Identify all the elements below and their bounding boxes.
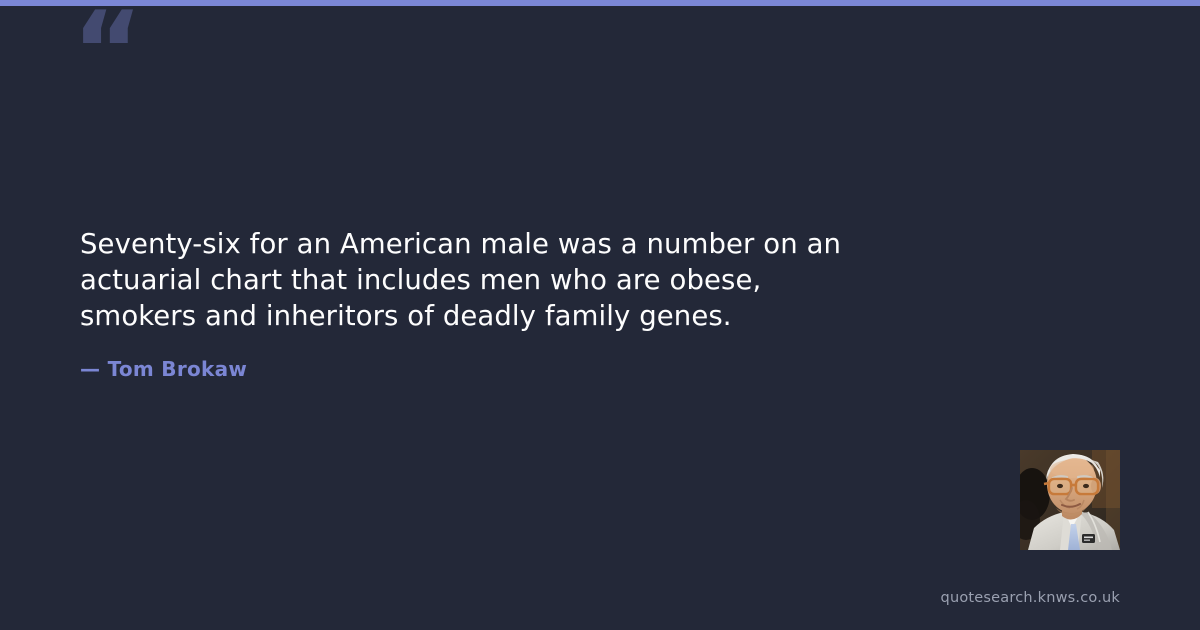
author-portrait xyxy=(1020,450,1120,550)
author-portrait-image xyxy=(1020,450,1120,550)
site-url-label: quotesearch.knws.co.uk xyxy=(941,590,1120,606)
quote-author: — Tom Brokaw xyxy=(80,357,247,381)
open-quote-icon: “ xyxy=(72,0,141,106)
quote-line: actuarial chart that includes men who ar… xyxy=(80,262,980,298)
quote-line: Seventy-six for an American male was a n… xyxy=(80,226,980,262)
quote-line: smokers and inheritors of deadly family … xyxy=(80,298,980,334)
quote-text: Seventy-six for an American male was a n… xyxy=(80,226,980,334)
top-accent-bar xyxy=(0,0,1200,6)
quote-card: “ Seventy-six for an American male was a… xyxy=(0,0,1200,630)
